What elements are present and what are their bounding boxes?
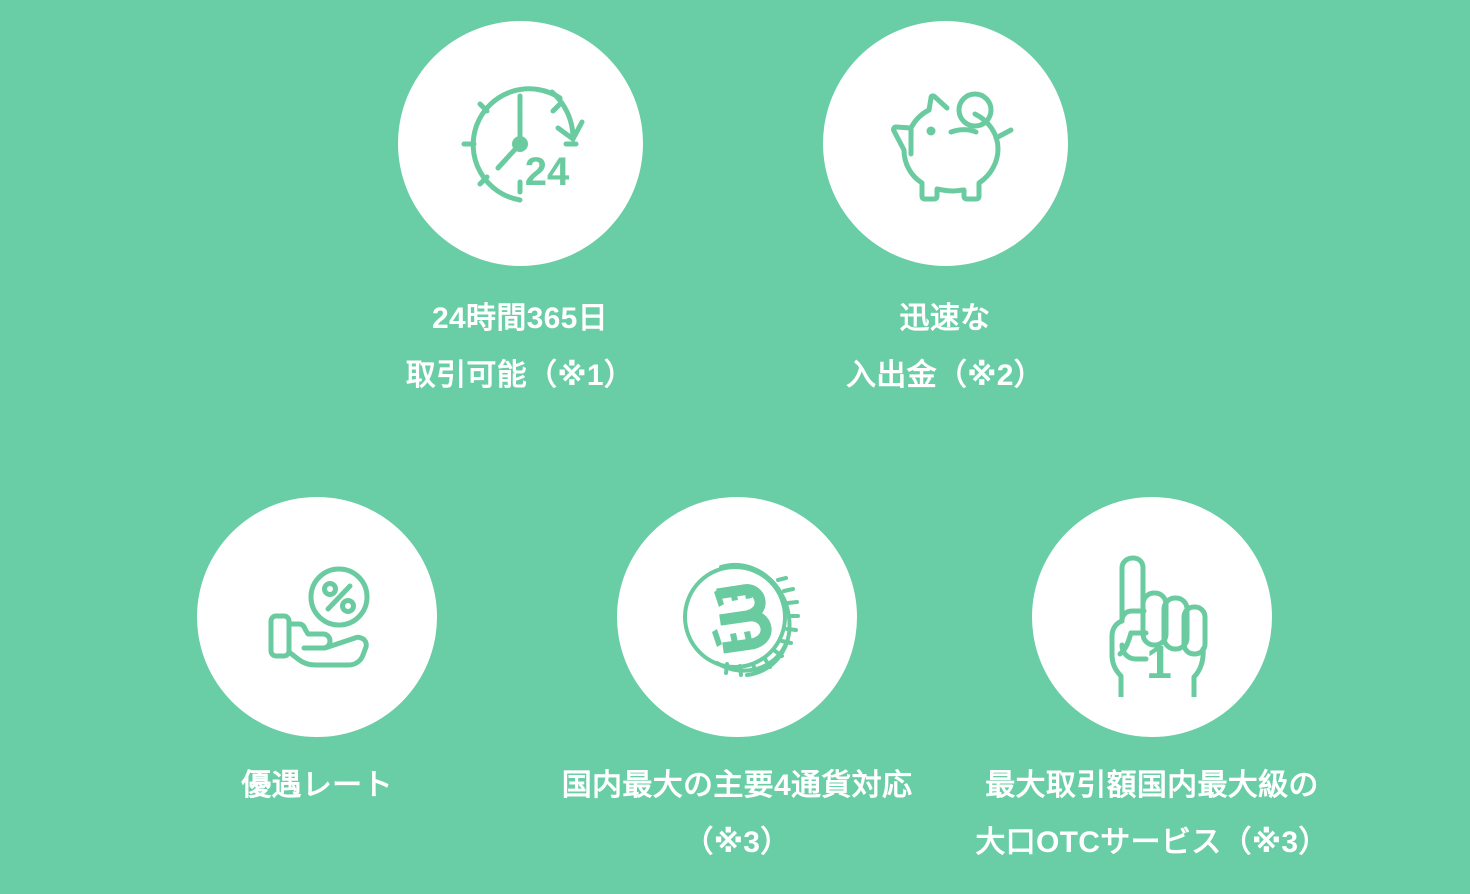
feature-label-trading-24-365: 24時間365日 取引可能（※1） xyxy=(406,290,634,404)
feature-trading-24-365[interactable]: 24 24時間365日 取引可能（※1） xyxy=(275,21,765,404)
clock-24-icon-disc: 24 xyxy=(398,21,643,266)
feature-label-line: 迅速な xyxy=(846,290,1044,347)
piggy-bank-icon xyxy=(865,64,1025,224)
feature-label-line: 国内最大の主要4通貨対応 xyxy=(562,757,913,814)
clock-24-badge-label: 24 xyxy=(525,150,570,194)
hand-number-one-icon: 1 xyxy=(1072,537,1232,697)
hand-number-one-icon-disc: 1 xyxy=(1032,497,1272,737)
hand-percent-icon-disc xyxy=(197,497,437,737)
feature-otc-service[interactable]: 1 最大取引額国内最大級の 大口OTCサービス（※3） xyxy=(912,497,1392,871)
hand-percent-icon xyxy=(237,537,397,697)
feature-label-preferential-rate: 優遇レート xyxy=(241,757,393,814)
bitcoin-coin-icon-disc xyxy=(617,497,857,737)
feature-label-otc-service: 最大取引額国内最大級の 大口OTCサービス（※3） xyxy=(975,757,1328,871)
feature-fast-deposit-withdrawal[interactable]: 迅速な 入出金（※2） xyxy=(700,21,1190,404)
clock-24-icon: 24 xyxy=(440,64,600,224)
feature-four-major-currencies[interactable]: 国内最大の主要4通貨対応 （※3） xyxy=(497,497,977,871)
feature-label-line: （※3） xyxy=(562,814,913,871)
feature-label-fast-deposit-withdrawal: 迅速な 入出金（※2） xyxy=(846,290,1044,404)
feature-label-line: 入出金（※2） xyxy=(846,347,1044,404)
feature-label-four-major-currencies: 国内最大の主要4通貨対応 （※3） xyxy=(562,757,913,871)
feature-label-line: 24時間365日 xyxy=(406,290,634,347)
feature-highlights-page: 24 24時間365日 取引可能（※1） xyxy=(0,0,1470,894)
feature-label-line: 最大取引額国内最大級の xyxy=(975,757,1328,814)
feature-label-line: 優遇レート xyxy=(241,757,393,814)
hand-number-one-badge-label: 1 xyxy=(1146,636,1172,688)
feature-label-line: 取引可能（※1） xyxy=(406,347,634,404)
piggy-bank-icon-disc xyxy=(823,21,1068,266)
feature-preferential-rate[interactable]: 優遇レート xyxy=(77,497,557,814)
feature-label-line: 大口OTCサービス（※3） xyxy=(975,814,1328,871)
bitcoin-coin-icon xyxy=(657,537,817,697)
piggy-eye-dot xyxy=(927,126,936,135)
